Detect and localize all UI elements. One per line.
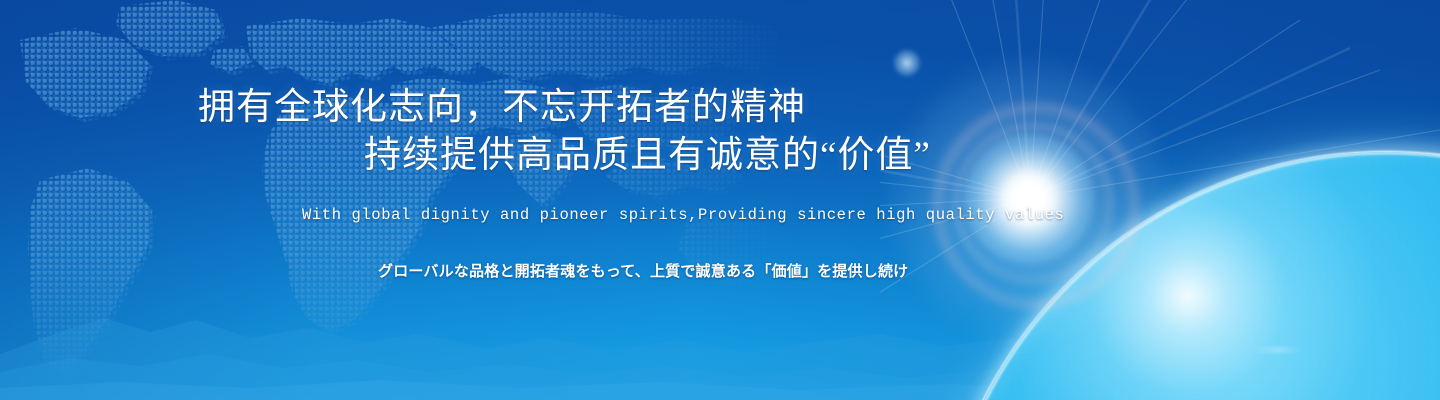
headline-line-2: 持续提供高品质且有诚意的“价值” <box>198 132 1098 180</box>
hero-banner: 拥有全球化志向，不忘开拓者的精神 持续提供高品质且有诚意的“价值” With g… <box>0 0 1440 400</box>
subtitle-japanese: グローバルな品格と開拓者魂をもって、上質で誠意ある「価値」を提供し続け <box>378 260 908 281</box>
headline-line-1: 拥有全球化志向，不忘开拓者的精神 <box>198 84 1098 132</box>
banner-copy: 拥有全球化志向，不忘开拓者的精神 持续提供高品质且有诚意的“价值” With g… <box>0 0 1440 400</box>
subtitle-english: With global dignity and pioneer spirits,… <box>302 206 1064 224</box>
headline: 拥有全球化志向，不忘开拓者的精神 持续提供高品质且有诚意的“价值” <box>198 84 1098 180</box>
